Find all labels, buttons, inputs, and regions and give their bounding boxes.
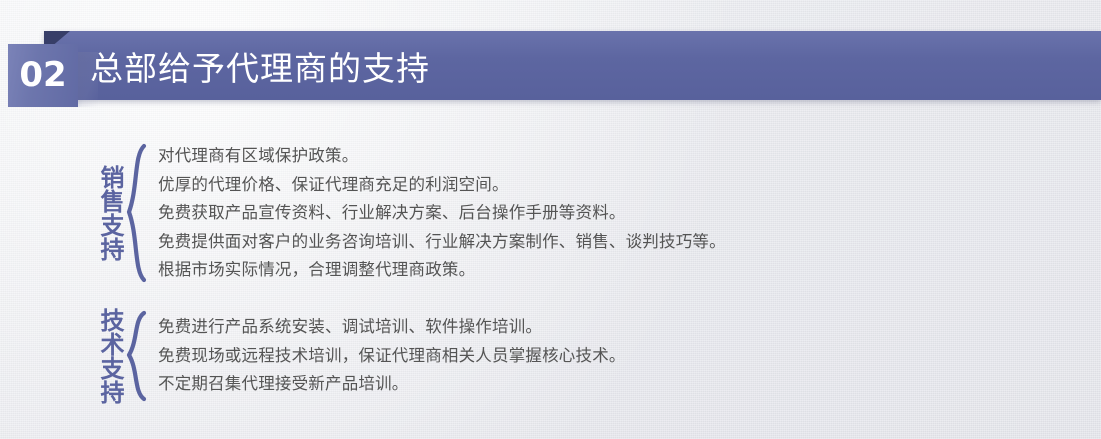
section-technical-support: 技术支持 免费进行产品系统安装、调试培训、软件操作培训。 免费现场或远程技术培训… bbox=[88, 308, 626, 404]
list-item: 对代理商有区域保护政策。 bbox=[158, 142, 726, 171]
list-item: 免费现场或远程技术培训，保证代理商相关人员掌握核心技术。 bbox=[158, 342, 626, 371]
section-sales-support-lines: 对代理商有区域保护政策。 优厚的代理价格、保证代理商充足的利润空间。 免费获取产… bbox=[152, 142, 726, 285]
page-title: 总部给予代理商的支持 bbox=[90, 41, 430, 91]
list-item: 免费获取产品宣传资料、行业解决方案、后台操作手册等资料。 bbox=[158, 199, 726, 228]
list-item: 免费提供面对客户的业务咨询培训、行业解决方案制作、销售、谈判技巧等。 bbox=[158, 228, 726, 257]
section-label-technical-support: 技术支持 bbox=[88, 308, 122, 404]
curly-brace-icon bbox=[122, 143, 152, 283]
list-item: 根据市场实际情况，合理调整代理商政策。 bbox=[158, 256, 726, 285]
list-item: 不定期召集代理接受新产品培训。 bbox=[158, 370, 626, 399]
header-badge-number: 02 bbox=[8, 44, 78, 107]
section-label-sales-support: 销售支持 bbox=[88, 165, 122, 261]
curly-brace-icon bbox=[122, 310, 152, 402]
list-item: 免费进行产品系统安装、调试培训、软件操作培训。 bbox=[158, 313, 626, 342]
section-technical-support-lines: 免费进行产品系统安装、调试培训、软件操作培训。 免费现场或远程技术培训，保证代理… bbox=[152, 313, 626, 399]
section-sales-support: 销售支持 对代理商有区域保护政策。 优厚的代理价格、保证代理商充足的利润空间。 … bbox=[88, 142, 726, 285]
slide-header: 02 总部给予代理商的支持 bbox=[0, 0, 1101, 120]
list-item: 优厚的代理价格、保证代理商充足的利润空间。 bbox=[158, 171, 726, 200]
header-number-badge: 02 bbox=[8, 44, 78, 107]
